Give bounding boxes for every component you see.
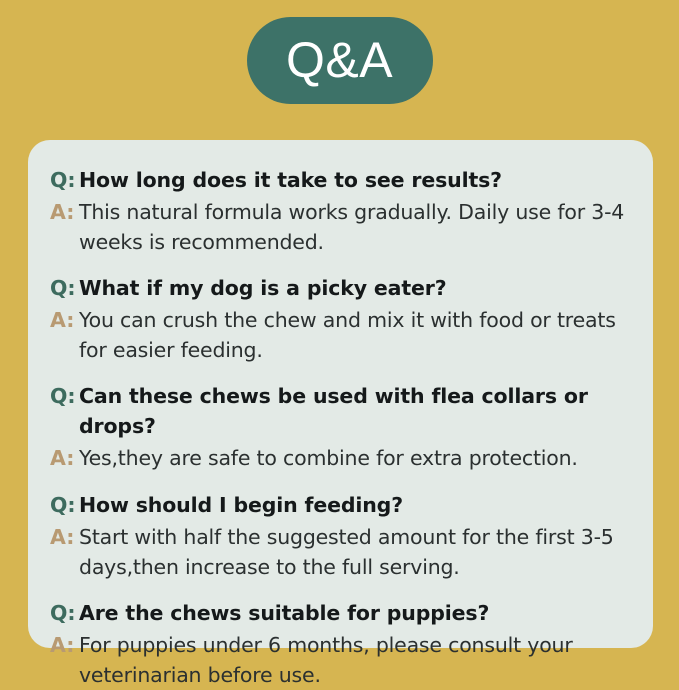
faq-question-row: Q: How should I begin feeding?: [50, 491, 631, 521]
answer-prefix-label: A:: [50, 198, 79, 228]
faq-question-row: Q: How long does it take to see results?: [50, 166, 631, 196]
qa-badge: Q&A: [247, 17, 433, 104]
question-prefix-label: Q:: [50, 599, 79, 629]
question-prefix-label: Q:: [50, 166, 79, 196]
faq-answer-row: A: You can crush the chew and mix it wit…: [50, 305, 631, 365]
faq-card: Q: How long does it take to see results?…: [28, 140, 653, 648]
faq-answer-text: Start with half the suggested amount for…: [79, 522, 631, 582]
faq-list: Q: How long does it take to see results?…: [50, 166, 631, 690]
faq-answer-row: A: Start with half the suggested amount …: [50, 522, 631, 582]
faq-answer-row: A: Yes,they are safe to combine for extr…: [50, 443, 631, 474]
faq-answer-text: For puppies under 6 months, please consu…: [79, 630, 631, 690]
faq-question-text: Can these chews be used with flea collar…: [79, 382, 631, 442]
answer-prefix-label: A:: [50, 306, 79, 336]
faq-item: Q: What if my dog is a picky eater? A: Y…: [50, 274, 631, 365]
answer-prefix-label: A:: [50, 444, 79, 474]
question-prefix-label: Q:: [50, 274, 79, 304]
qa-badge-label: Q&A: [286, 35, 393, 85]
faq-question-text: How long does it take to see results?: [79, 166, 502, 196]
faq-question-row: Q: Are the chews suitable for puppies?: [50, 599, 631, 629]
question-prefix-label: Q:: [50, 491, 79, 521]
answer-prefix-label: A:: [50, 631, 79, 661]
faq-question-row: Q: What if my dog is a picky eater?: [50, 274, 631, 304]
badge-container: Q&A: [0, 0, 679, 140]
faq-answer-row: A: This natural formula works gradually.…: [50, 197, 631, 257]
faq-question-row: Q: Can these chews be used with flea col…: [50, 382, 631, 442]
faq-item: Q: How should I begin feeding? A: Start …: [50, 491, 631, 582]
faq-question-text: How should I begin feeding?: [79, 491, 403, 521]
faq-question-text: Are the chews suitable for puppies?: [79, 599, 489, 629]
faq-answer-row: A: For puppies under 6 months, please co…: [50, 630, 631, 690]
faq-answer-text: Yes,they are safe to combine for extra p…: [79, 443, 578, 473]
faq-item: Q: Are the chews suitable for puppies? A…: [50, 599, 631, 690]
faq-item: Q: Can these chews be used with flea col…: [50, 382, 631, 474]
faq-item: Q: How long does it take to see results?…: [50, 166, 631, 257]
faq-answer-text: You can crush the chew and mix it with f…: [79, 305, 631, 365]
answer-prefix-label: A:: [50, 523, 79, 553]
question-prefix-label: Q:: [50, 382, 79, 412]
faq-answer-text: This natural formula works gradually. Da…: [79, 197, 631, 257]
faq-question-text: What if my dog is a picky eater?: [79, 274, 446, 304]
